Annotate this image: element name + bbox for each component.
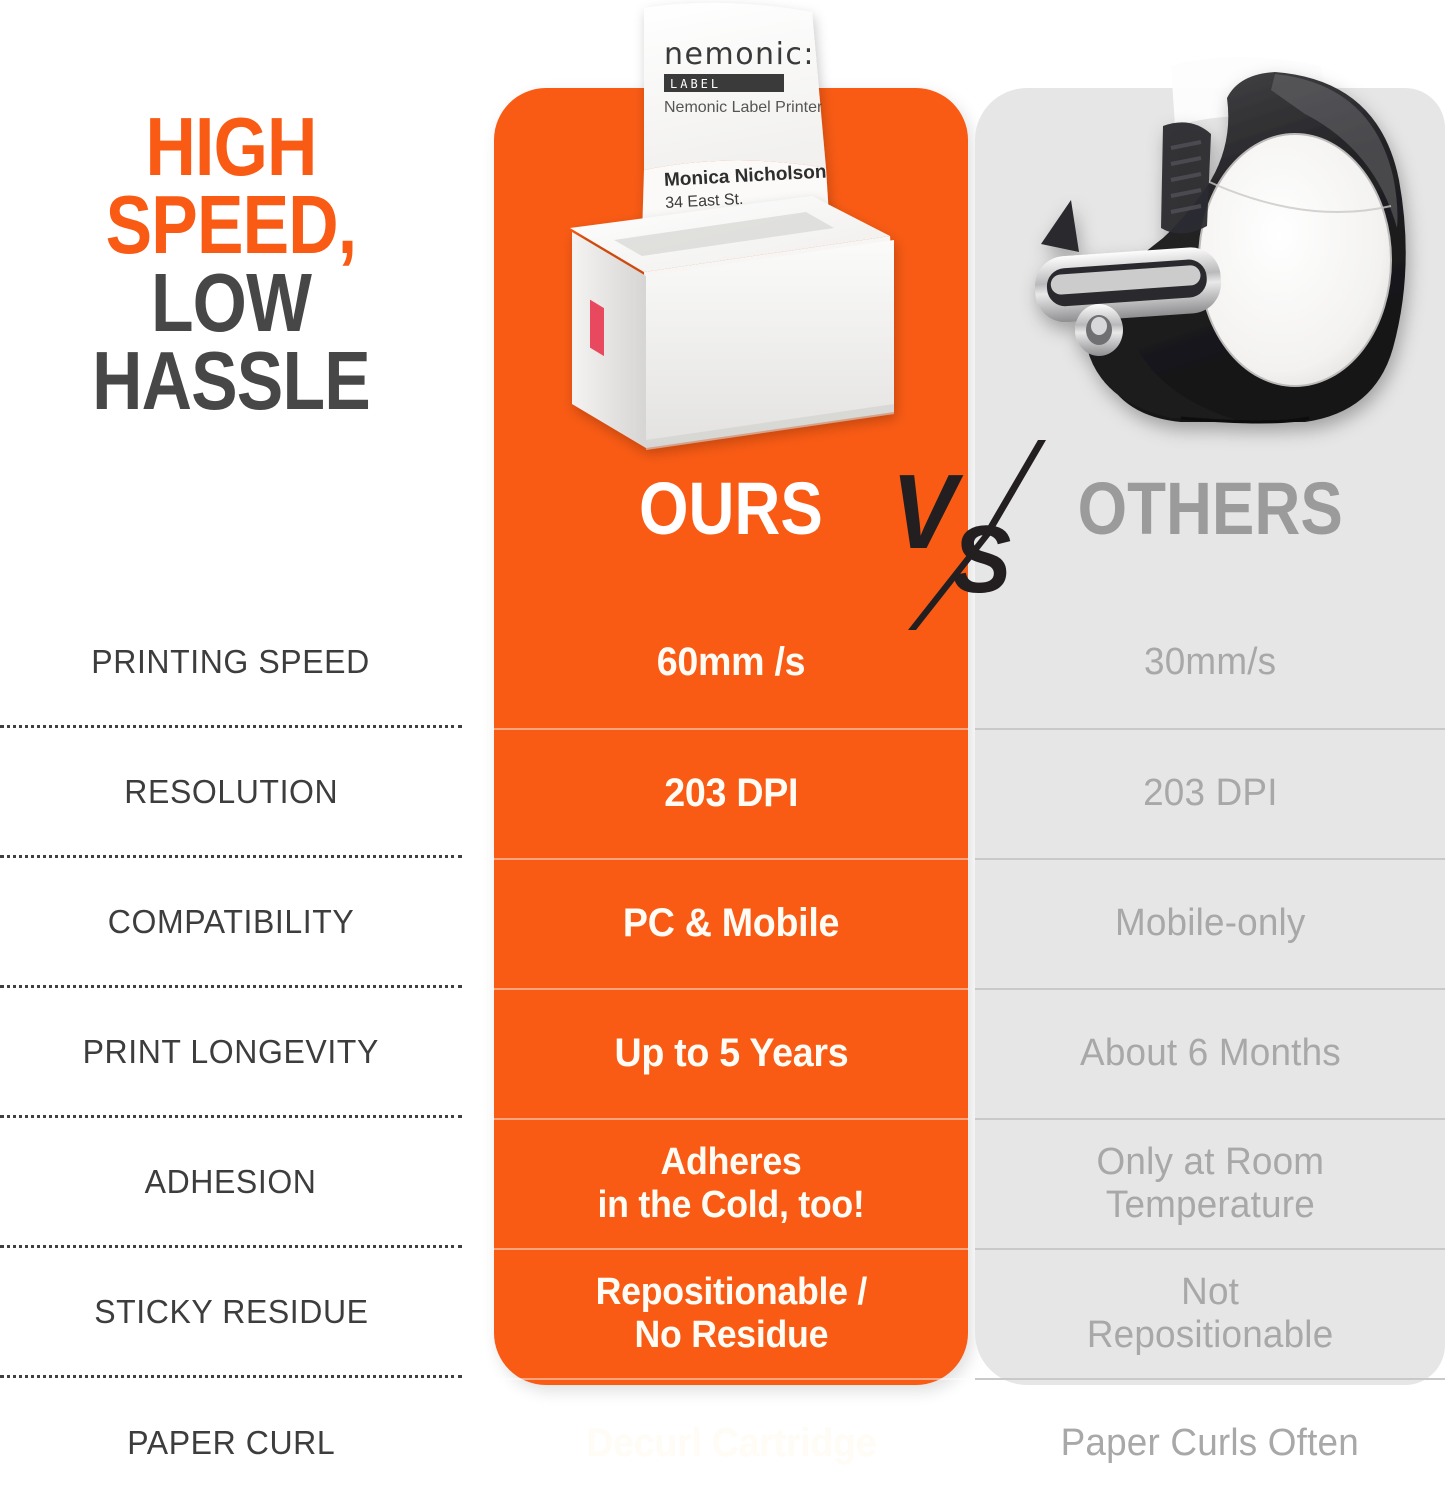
ours-value: Repositionable /No Residue [595, 1271, 866, 1357]
page-headline: HIGH SPEED, LOW HASSLE [0, 108, 462, 420]
ours-value-row: Decurl Cartridge [494, 1378, 968, 1508]
headline-line-3: LOW [37, 264, 425, 342]
feature-label-row: RESOLUTION [0, 728, 462, 858]
svg-text:Nemonic Label Printer: Nemonic Label Printer [664, 99, 823, 116]
feature-label: COMPATIBILITY [108, 903, 354, 941]
ours-value-row: 203 DPI [494, 728, 968, 858]
red-sticker [590, 300, 604, 356]
others-value: Paper Curls Often [1061, 1422, 1359, 1465]
feature-label-column: HIGH SPEED, LOW HASSLE PRINTING SPEED RE… [0, 0, 462, 1390]
headline-line-1: HIGH [37, 108, 425, 186]
others-value: Mobile-only [1115, 902, 1306, 945]
ours-value: Decurl Cartridge [586, 1421, 876, 1466]
ours-value-row: Repositionable /No Residue [494, 1248, 968, 1378]
others-value-row: Only at RoomTemperature [975, 1118, 1445, 1248]
svg-text:nemonic:: nemonic: [664, 37, 815, 72]
feature-label-row: ADHESION [0, 1118, 462, 1248]
feature-label: RESOLUTION [124, 773, 338, 811]
ours-value-row: PC & Mobile [494, 858, 968, 988]
feature-label: PRINT LONGEVITY [83, 1033, 379, 1071]
ours-value: PC & Mobile [623, 901, 839, 946]
headline-line-2: SPEED, [37, 186, 425, 264]
others-value-list: 30mm/s 203 DPI Mobile-only About 6 Month… [975, 598, 1445, 1508]
feature-label: ADHESION [145, 1163, 317, 1201]
ours-value-row: Up to 5 Years [494, 988, 968, 1118]
ours-value: Adheresin the Cold, too! [597, 1141, 864, 1227]
ours-product-photo: nemonic: LABEL Nemonic Label Printer Mon… [494, 0, 968, 470]
feature-label-row: COMPATIBILITY [0, 858, 462, 988]
feature-label-list: PRINTING SPEED RESOLUTION COMPATIBILITY … [0, 598, 462, 1508]
others-value: 30mm/s [1144, 641, 1276, 684]
label-roll [1199, 134, 1391, 386]
ours-value: 60mm /s [657, 640, 806, 685]
feature-label: PAPER CURL [127, 1424, 335, 1462]
others-value: 203 DPI [1143, 772, 1278, 815]
competitor-printer-body [1033, 72, 1406, 422]
others-value: Only at RoomTemperature [1096, 1141, 1324, 1228]
others-value-row: About 6 Months [975, 988, 1445, 1118]
ours-value-row: Adheresin the Cold, too! [494, 1118, 968, 1248]
headline-line-4: HASSLE [37, 342, 425, 420]
ours-value: 203 DPI [664, 771, 798, 816]
vs-badge: V S [886, 440, 1066, 630]
svg-text:LABEL: LABEL [670, 77, 721, 91]
feature-label-row: PRINT LONGEVITY [0, 988, 462, 1118]
others-value-row: Paper Curls Often [975, 1378, 1445, 1508]
printer-body [570, 196, 894, 450]
others-value: About 6 Months [1080, 1032, 1341, 1075]
ours-value: Up to 5 Years [614, 1031, 848, 1076]
others-product-photo [975, 30, 1445, 460]
others-value-row: Mobile-only [975, 858, 1445, 988]
others-value-row: NotRepositionable [975, 1248, 1445, 1378]
vs-letter-s: S [952, 506, 1011, 613]
feature-label-row: PAPER CURL [0, 1378, 462, 1508]
others-value-row: 203 DPI [975, 728, 1445, 858]
ours-value-list: 60mm /s 203 DPI PC & Mobile Up to 5 Year… [494, 598, 968, 1508]
others-value: NotRepositionable [1087, 1271, 1334, 1358]
feature-label: STICKY RESIDUE [94, 1293, 368, 1331]
feature-label-row: STICKY RESIDUE [0, 1248, 462, 1378]
feature-label: PRINTING SPEED [92, 643, 371, 681]
feature-label-row: PRINTING SPEED [0, 598, 462, 728]
